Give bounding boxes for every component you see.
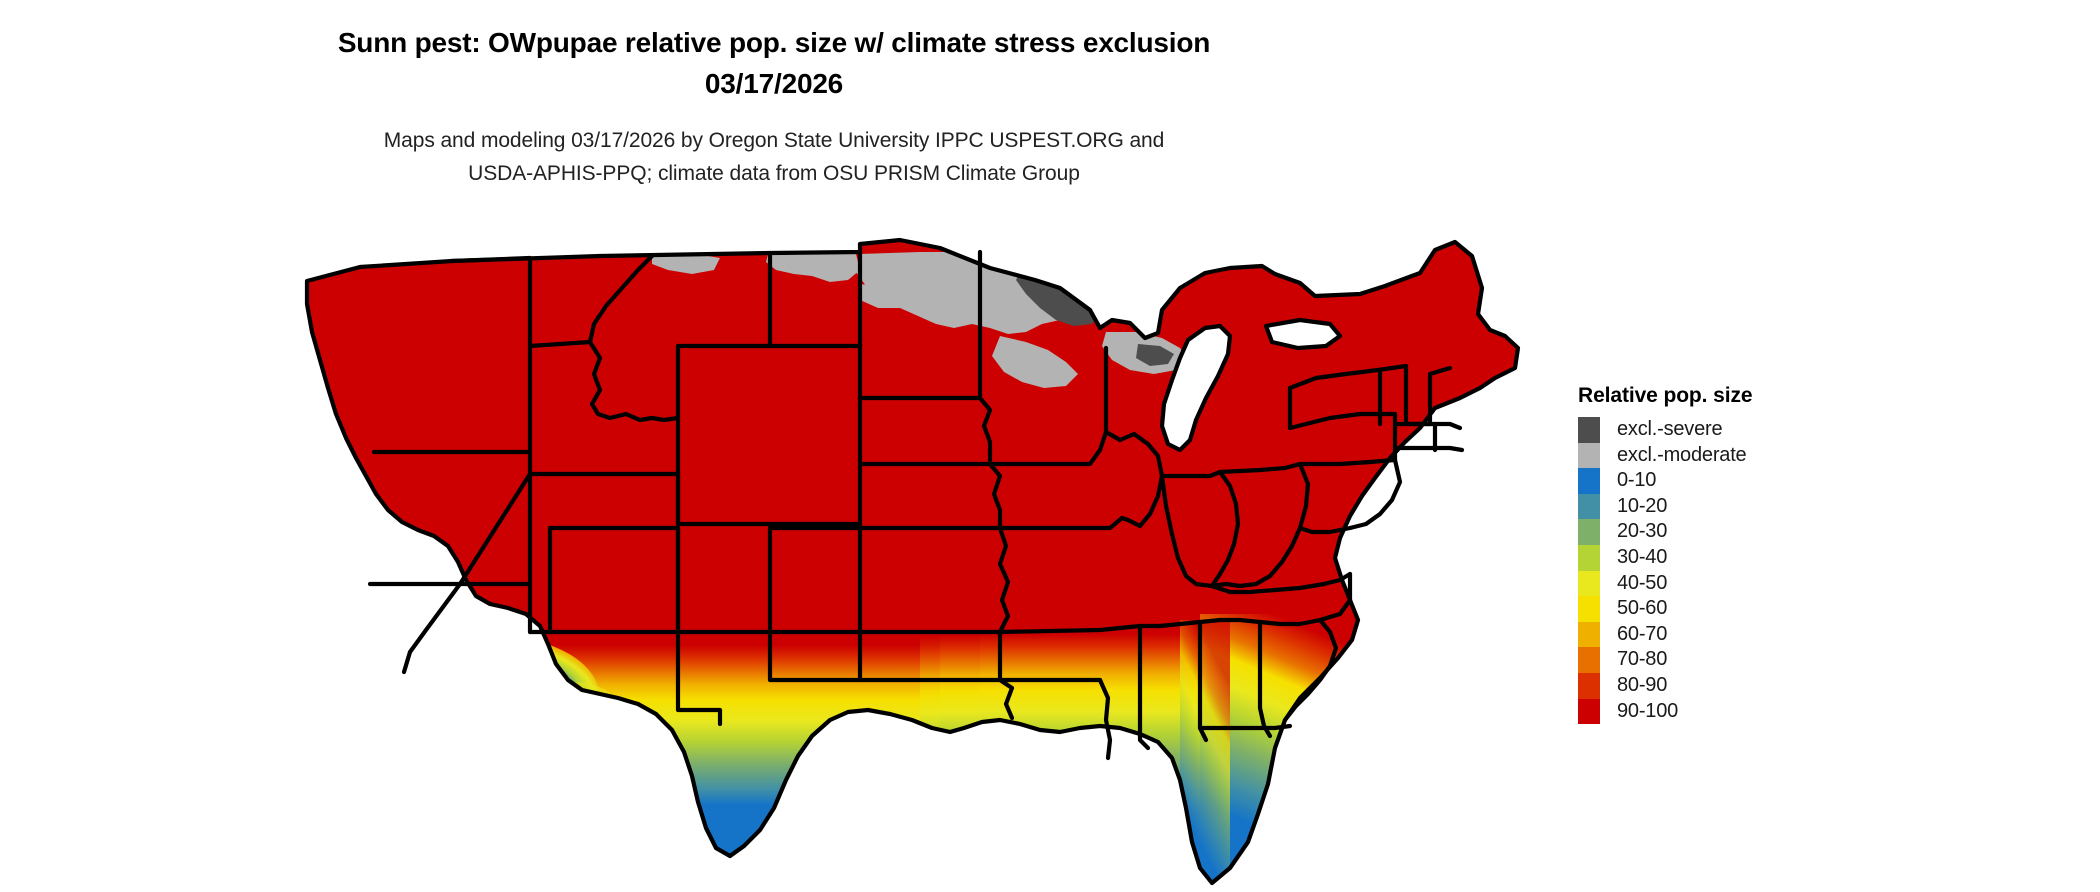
legend-label: 40-50 (1617, 571, 1667, 597)
legend-label: excl.-moderate (1617, 443, 1746, 469)
legend-swatch (1578, 596, 1600, 622)
legend-label: excl.-severe (1617, 417, 1722, 443)
legend-swatch (1578, 443, 1600, 469)
legend-row[interactable]: 10-20 (1578, 494, 1752, 520)
legend-label: 80-90 (1617, 673, 1667, 699)
legend-swatch (1578, 417, 1600, 443)
legend-row[interactable]: 40-50 (1578, 571, 1752, 597)
map-page: Sunn pest: OWpupae relative pop. size w/… (0, 0, 2100, 892)
legend-row[interactable]: 30-40 (1578, 545, 1752, 571)
legend-label: 20-30 (1617, 519, 1667, 545)
raster-gradient-texas (550, 632, 970, 888)
legend-swatch (1578, 545, 1600, 571)
legend-row[interactable]: 50-60 (1578, 596, 1752, 622)
raster-gradient-seam-gulf (920, 628, 980, 888)
legend-label: 60-70 (1617, 622, 1667, 648)
legend-swatch (1578, 699, 1600, 725)
legend-label: 10-20 (1617, 494, 1667, 520)
legend-row[interactable]: 20-30 (1578, 519, 1752, 545)
page-subtitle: Maps and modeling 03/17/2026 by Oregon S… (0, 124, 1548, 190)
legend-label: 0-10 (1617, 468, 1656, 494)
raster-gradient-southeast (1200, 614, 1430, 888)
page-title: Sunn pest: OWpupae relative pop. size w/… (0, 22, 1548, 104)
legend-title: Relative pop. size (1578, 384, 1752, 408)
subtitle-line-2: USDA-APHIS-PPQ; climate data from OSU PR… (0, 157, 1548, 190)
legend-row[interactable]: 0-10 (1578, 468, 1752, 494)
legend-row[interactable]: excl.-severe (1578, 417, 1752, 443)
subtitle-line-1: Maps and modeling 03/17/2026 by Oregon S… (0, 124, 1548, 157)
legend-swatch (1578, 519, 1600, 545)
map-legend: Relative pop. size excl.-severeexcl.-mod… (1578, 384, 1752, 724)
choropleth-map (300, 228, 1560, 888)
legend-swatch (1578, 622, 1600, 648)
raster-colorado-river-arm (430, 614, 470, 674)
raster-desert-imperial (358, 638, 482, 722)
raster-rio-grande-band (528, 682, 616, 726)
map-raster-layer (300, 228, 1560, 888)
raster-gradient-seam-southeast (1180, 620, 1230, 888)
legend-row[interactable]: 70-80 (1578, 647, 1752, 673)
legend-swatch (1578, 647, 1600, 673)
legend-items: excl.-severeexcl.-moderate0-1010-2020-30… (1578, 417, 1752, 724)
legend-label: 30-40 (1617, 545, 1667, 571)
legend-label: 70-80 (1617, 647, 1667, 673)
legend-label: 50-60 (1617, 596, 1667, 622)
raster-desert-sonoran (392, 636, 600, 760)
raster-mojave-arm (372, 610, 420, 662)
title-line-2: 03/17/2026 (0, 63, 1548, 104)
line-fl-north (1200, 726, 1290, 728)
legend-row[interactable]: 60-70 (1578, 622, 1752, 648)
legend-row[interactable]: excl.-moderate (1578, 443, 1752, 469)
title-line-1: Sunn pest: OWpupae relative pop. size w/… (0, 22, 1548, 63)
legend-label: 90-100 (1617, 699, 1678, 725)
legend-row[interactable]: 90-100 (1578, 699, 1752, 725)
us-map-svg (300, 228, 1560, 888)
legend-swatch (1578, 468, 1600, 494)
raster-base-90-100 (300, 228, 1560, 888)
line-ct-ri-north (1395, 448, 1462, 450)
legend-row[interactable]: 80-90 (1578, 673, 1752, 699)
lake-huron-outline (1266, 320, 1340, 348)
legend-swatch (1578, 571, 1600, 597)
legend-swatch (1578, 494, 1600, 520)
legend-swatch (1578, 673, 1600, 699)
